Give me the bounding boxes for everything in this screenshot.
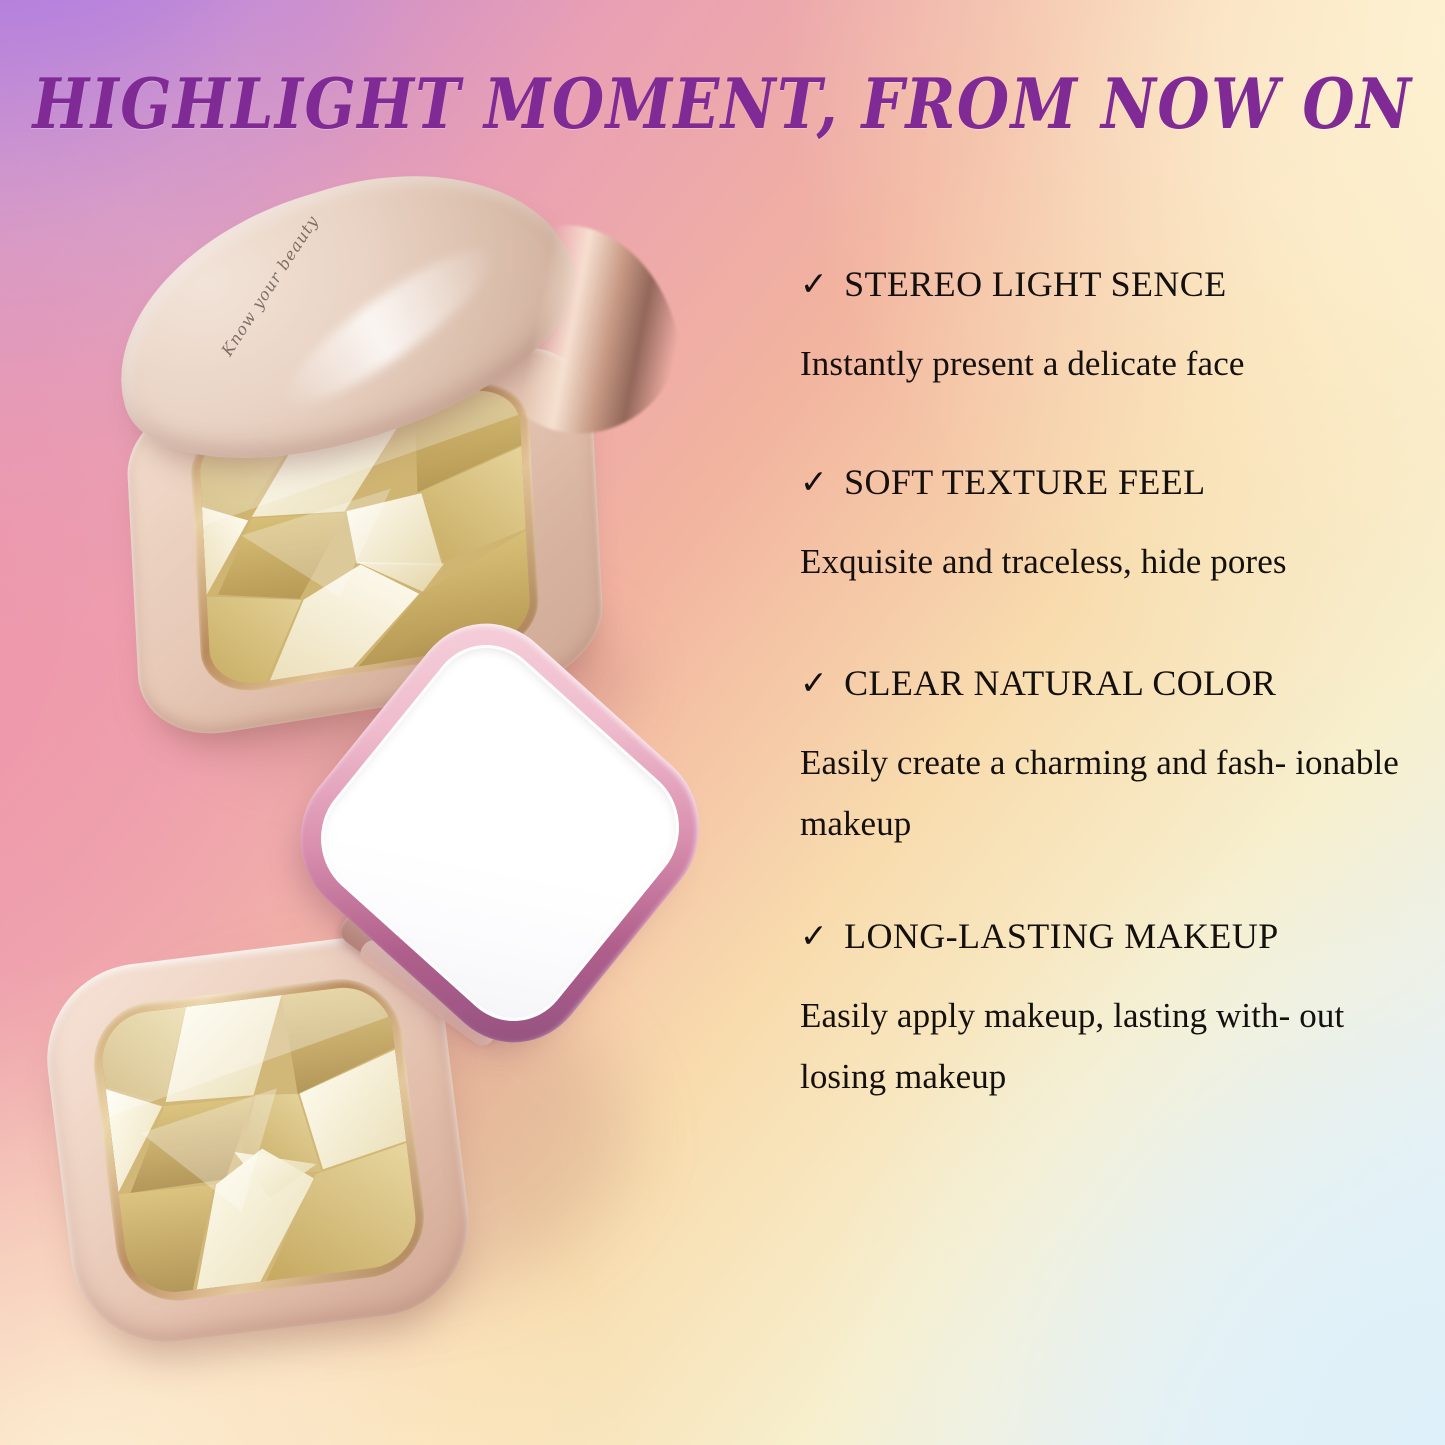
feature-item: ✓ SOFT TEXTURE FEEL Exquisite and tracel… — [800, 460, 1430, 592]
feature-heading: ✓ LONG-LASTING MAKEUP — [800, 914, 1430, 959]
check-icon: ✓ — [800, 263, 828, 304]
feature-heading: ✓ STEREO LIGHT SENCE — [800, 262, 1430, 307]
product-image-compact-open-bottom — [30, 650, 770, 1390]
feature-title: SOFT TEXTURE FEEL — [844, 460, 1206, 505]
product-feature-poster: HIGHLIGHT MOMENT, FROM NOW ON — [0, 0, 1445, 1445]
check-icon: ✓ — [800, 915, 828, 956]
feature-list: ✓ STEREO LIGHT SENCE Instantly present a… — [800, 262, 1430, 1108]
feature-item: ✓ CLEAR NATURAL COLOR Easily create a ch… — [800, 661, 1430, 855]
feature-item: ✓ STEREO LIGHT SENCE Instantly present a… — [800, 262, 1430, 394]
compact-gold-rim-bottom — [87, 972, 431, 1308]
feature-body: Exquisite and traceless, hide pores — [800, 531, 1430, 592]
feature-body: Easily apply makeup, lasting with- out l… — [800, 985, 1430, 1108]
highlighter-powder-pan-bottom — [97, 982, 421, 1297]
lid-engraved-script: Know your beauty — [217, 212, 322, 359]
feature-body: Instantly present a delicate face — [800, 333, 1430, 394]
feature-heading: ✓ SOFT TEXTURE FEEL — [800, 460, 1430, 505]
check-icon: ✓ — [800, 662, 828, 703]
feature-title: CLEAR NATURAL COLOR — [844, 661, 1276, 706]
check-icon: ✓ — [800, 461, 828, 502]
feature-item: ✓ LONG-LASTING MAKEUP Easily apply makeu… — [800, 914, 1430, 1108]
feature-title: LONG-LASTING MAKEUP — [844, 914, 1279, 959]
page-title: HIGHLIGHT MOMENT, FROM NOW ON — [0, 64, 1445, 145]
feature-body: Easily create a charming and fash- ionab… — [800, 732, 1430, 855]
product-image-compact-open-top: Know your beauty — [108, 190, 668, 710]
feature-heading: ✓ CLEAR NATURAL COLOR — [800, 661, 1430, 706]
feature-title: STEREO LIGHT SENCE — [844, 262, 1227, 307]
